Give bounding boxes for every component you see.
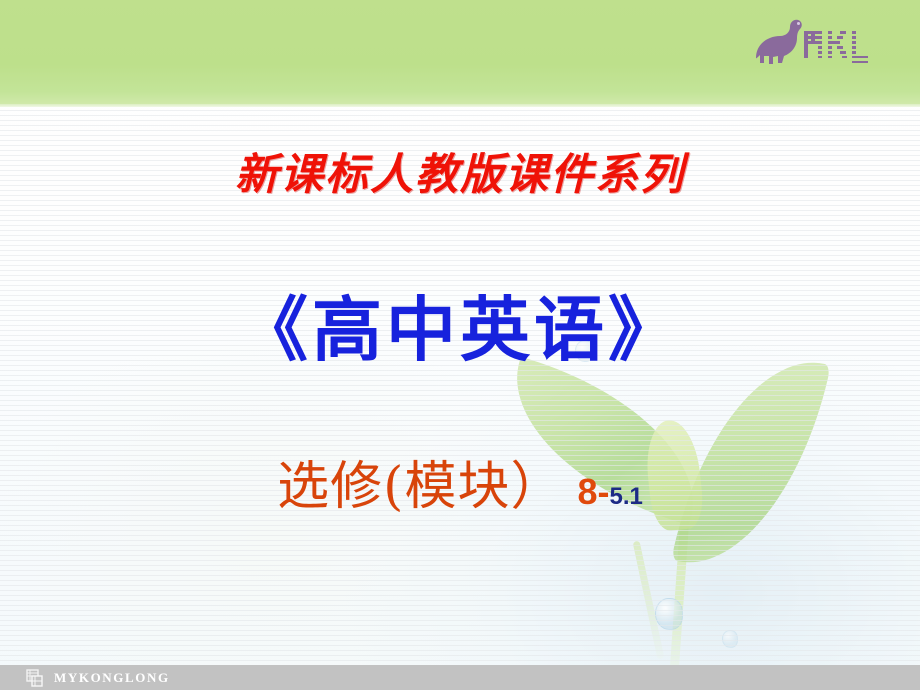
header-edge (0, 104, 920, 107)
unit-number: 5.1 (609, 483, 642, 510)
series-title: 新课标人教版课件系列 (0, 140, 920, 202)
subtitle-row: 选修(模块）8-5.1 (0, 444, 920, 519)
footer-brand-label: MYKONGLONG (54, 670, 170, 686)
water-droplet (722, 630, 738, 648)
page-title: 《高中英语》 (0, 274, 920, 375)
presentation-slide: 新课标人教版课件系列 《高中英语》 选修(模块）8-5.1 MYKONGLONG (0, 0, 920, 690)
water-droplet (655, 598, 683, 630)
brand-logo (752, 18, 884, 70)
footer-bar: MYKONGLONG (0, 665, 920, 690)
dinosaur-logo-icon (752, 18, 884, 70)
module-label: 选修(模块） (277, 457, 563, 517)
volume-number: 8- (577, 471, 609, 512)
books-stack-icon (26, 669, 44, 687)
